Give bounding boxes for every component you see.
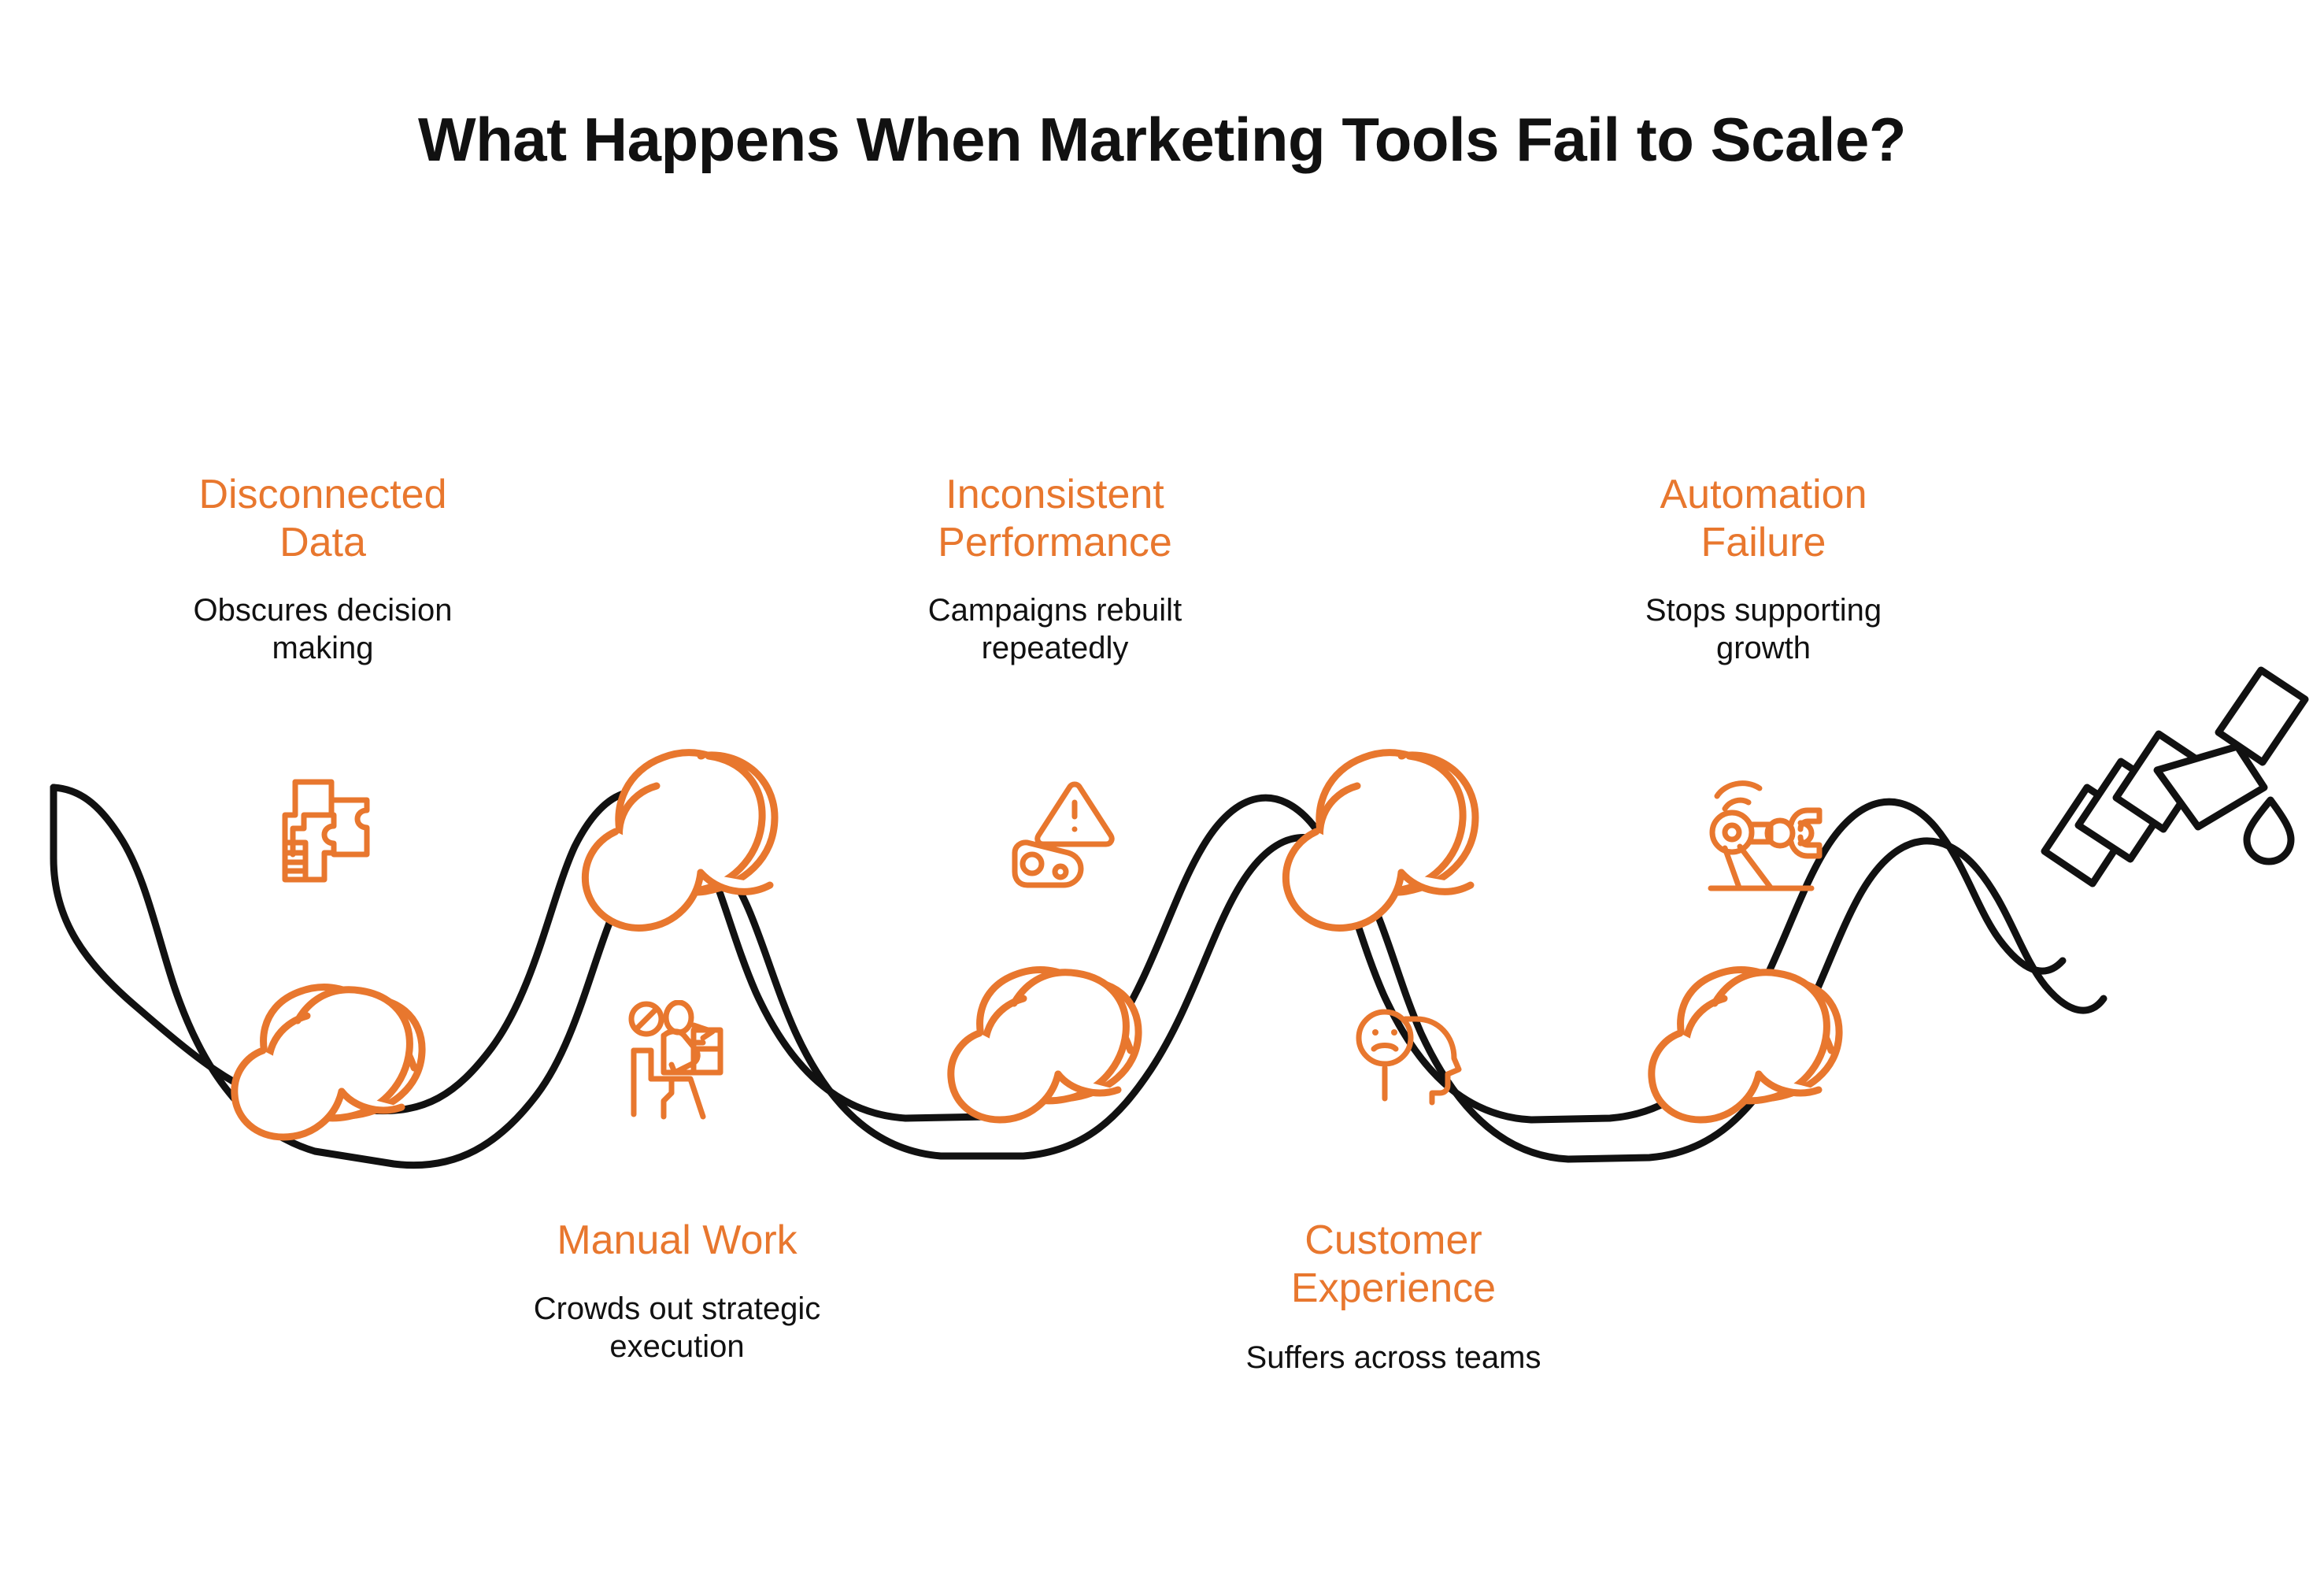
sad-face-head-icon bbox=[1350, 1000, 1492, 1126]
warning-triangle-icon bbox=[1004, 776, 1138, 894]
knot-3 bbox=[951, 969, 1138, 1120]
node-title: Manual Work bbox=[472, 1217, 882, 1265]
node-title: Automation Failure bbox=[1543, 471, 1984, 568]
node-description: Obscures decision making bbox=[102, 591, 543, 667]
knot-4 bbox=[1286, 753, 1475, 928]
node-title: Customer Experience bbox=[1189, 1217, 1598, 1313]
hose-nozzle-icon bbox=[2045, 670, 2305, 884]
water-drop-icon bbox=[2247, 800, 2291, 861]
node-description: Stops supporting growth bbox=[1543, 591, 1984, 667]
node-label-manual-work: Manual Work Crowds out strategic executi… bbox=[472, 1217, 882, 1365]
node-title: Inconsistent Performance bbox=[834, 471, 1275, 568]
infographic-canvas: What Happens When Marketing Tools Fail t… bbox=[0, 0, 2324, 1571]
node-label-disconnected-data: Disconnected Data Obscures decision maki… bbox=[102, 471, 543, 667]
node-description: Suffers across teams bbox=[1189, 1339, 1598, 1376]
blocked-desk-worker-icon bbox=[626, 1000, 764, 1126]
node-title: Disconnected Data bbox=[102, 471, 543, 568]
node-label-inconsistent-performance: Inconsistent Performance Campaigns rebui… bbox=[834, 471, 1275, 667]
robot-arm-icon bbox=[1704, 776, 1846, 902]
knot-1 bbox=[235, 987, 422, 1137]
knot-5 bbox=[1652, 969, 1839, 1120]
node-label-customer-experience: Customer Experience Suffers across teams bbox=[1189, 1217, 1598, 1376]
node-description: Campaigns rebuilt repeatedly bbox=[834, 591, 1275, 667]
node-description: Crowds out strategic execution bbox=[472, 1290, 882, 1365]
puzzle-pieces-icon bbox=[274, 776, 408, 894]
node-label-automation-failure: Automation Failure Stops supporting grow… bbox=[1543, 471, 1984, 667]
